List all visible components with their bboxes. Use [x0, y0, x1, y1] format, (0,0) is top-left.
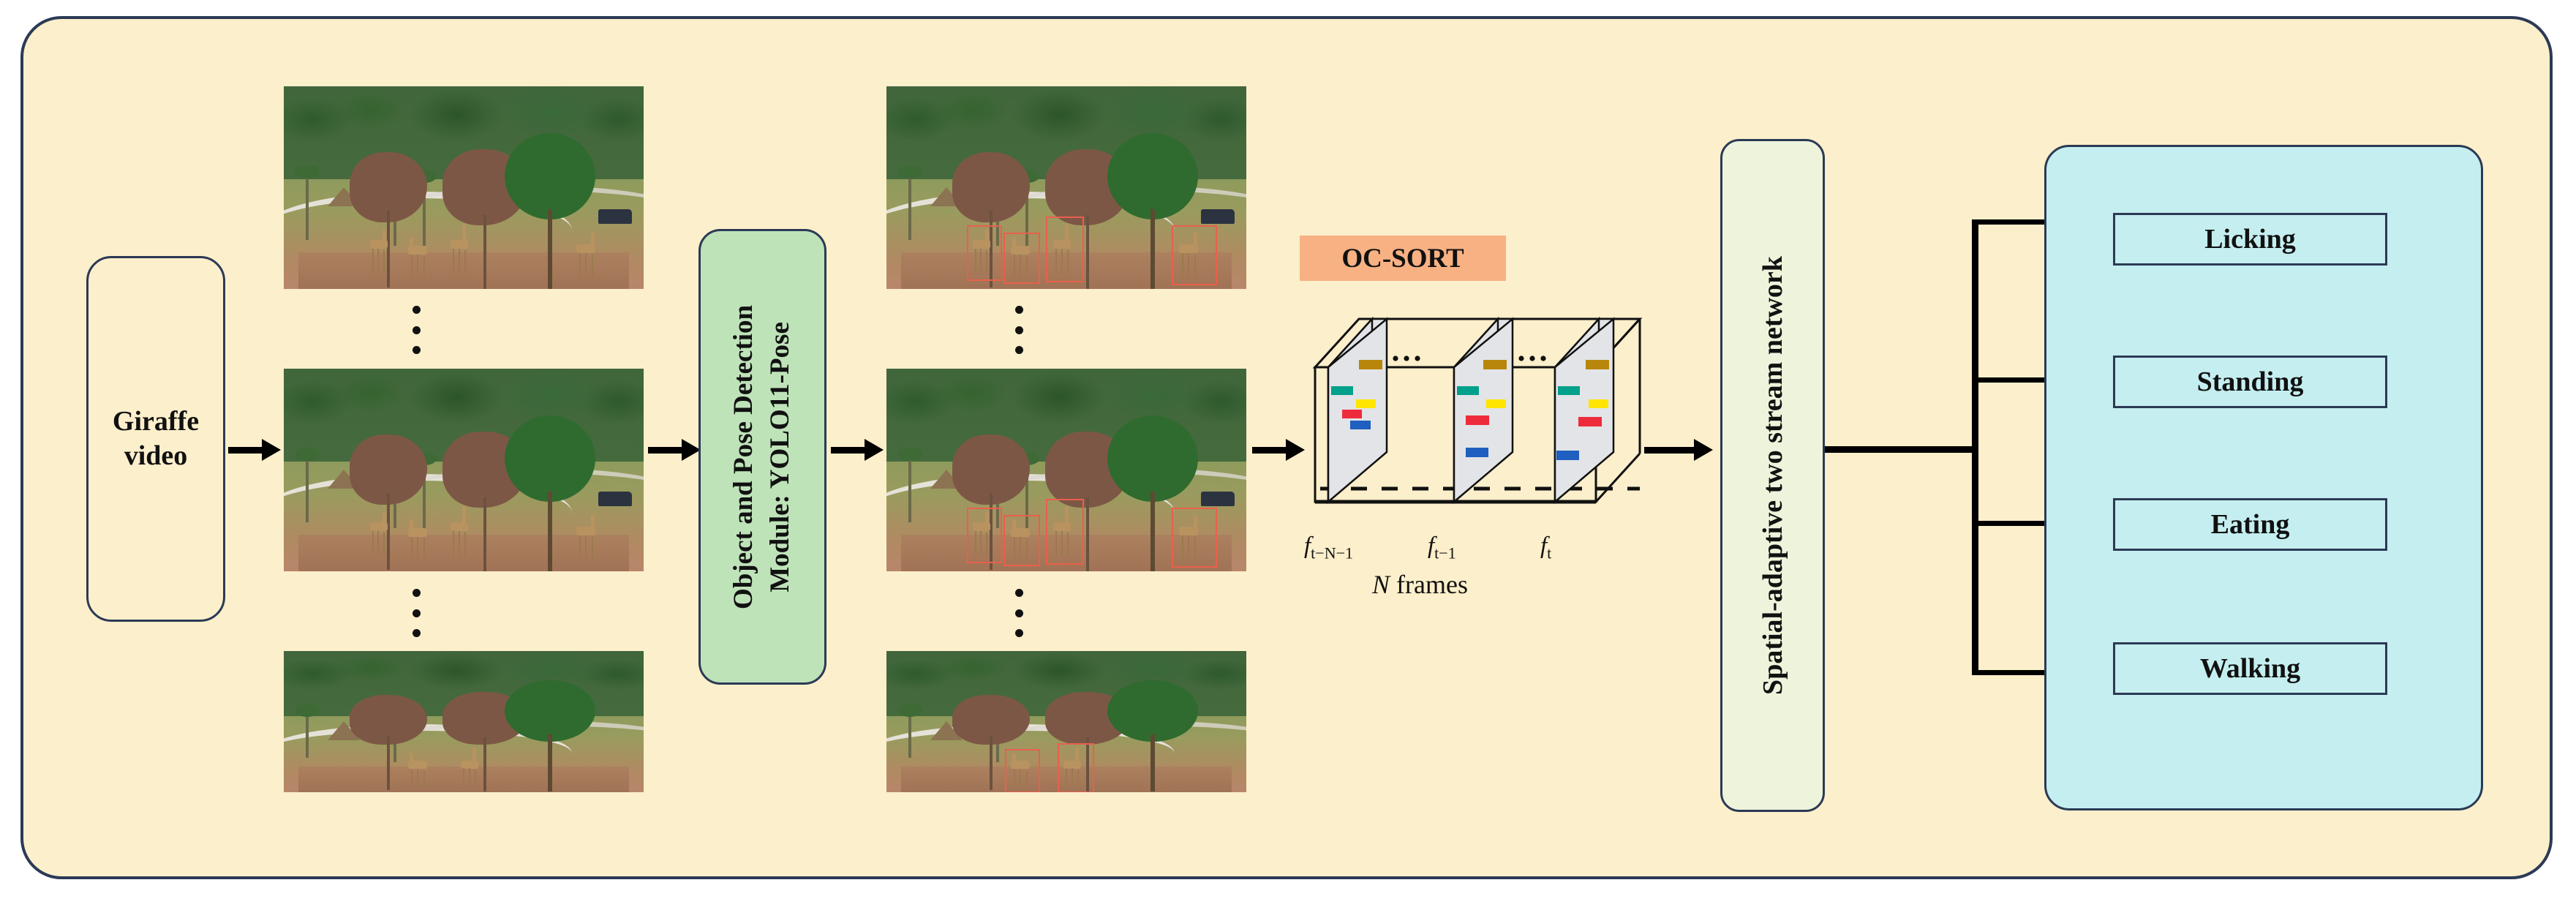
- branch-line-eating: [1972, 521, 2054, 526]
- cube-svg: [1302, 306, 1646, 533]
- branch-line-walking: [1972, 670, 2054, 675]
- raw-frames-ellipsis-top: [412, 306, 421, 354]
- detected-frame-top: [886, 86, 1246, 289]
- giraffe-video-label-line1: Giraffe: [113, 406, 199, 437]
- detection-bbox: [1172, 225, 1217, 285]
- spatial-adaptive-network-label: Spatial-adaptive two stream network: [1757, 256, 1789, 695]
- detection-bbox: [1003, 233, 1040, 284]
- output-licking-label: Licking: [2204, 223, 2296, 255]
- cube-frame-label-2-base: f: [1540, 533, 1547, 559]
- branch-spine-vertical: [1972, 219, 1978, 675]
- output-eating[interactable]: Eating: [2113, 498, 2387, 551]
- detected-frames-ellipsis-top: [1014, 306, 1023, 354]
- output-licking[interactable]: Licking: [2113, 213, 2387, 266]
- output-eating-label: Eating: [2211, 508, 2290, 541]
- oc-sort-banner[interactable]: OC-SORT: [1300, 236, 1506, 281]
- cube-frame-label-2: ft: [1540, 533, 1551, 563]
- detector-label: Object and Pose Detection Module: YOLO11…: [726, 304, 799, 609]
- cube-frame-label-1: ft−1: [1428, 533, 1456, 563]
- oc-sort-label: OC-SORT: [1341, 243, 1464, 274]
- raw-frame-bottom: [284, 651, 644, 792]
- detection-bbox: [1003, 515, 1040, 566]
- cube-frame-label-1-base: f: [1428, 533, 1434, 559]
- cube-frame-label-0: ft−N−1: [1304, 533, 1353, 563]
- giraffe-video-box[interactable]: Giraffe video: [86, 256, 225, 622]
- cube-frame-label-2-sub: t: [1547, 544, 1551, 563]
- detector-label-line2: Module: YOLO11-Pose: [766, 322, 796, 593]
- detected-frame-bottom: [886, 651, 1246, 792]
- detection-bbox: [967, 225, 1002, 281]
- detection-bbox: [1046, 217, 1084, 282]
- branch-line-licking: [1972, 219, 2054, 225]
- detected-frames-ellipsis-bottom: [1014, 589, 1023, 637]
- output-standing[interactable]: Standing: [2113, 356, 2387, 408]
- cube-frame-label-0-base: f: [1304, 533, 1311, 559]
- cube-frame-label-0-sub: t−N−1: [1311, 544, 1353, 563]
- giraffe-video-label-line2: video: [124, 440, 188, 471]
- detection-bbox: [1005, 749, 1040, 792]
- branch-trunk-horizontal: [1825, 446, 1973, 453]
- detection-bbox: [1046, 499, 1084, 565]
- output-standing-label: Standing: [2197, 366, 2304, 398]
- detection-bbox: [1172, 508, 1217, 568]
- detector-label-line1: Object and Pose Detection: [729, 304, 759, 609]
- detected-frame-middle: [886, 369, 1246, 571]
- detection-bbox: [967, 508, 1002, 563]
- diagram-canvas: Giraffe video: [0, 0, 2576, 899]
- raw-frame-middle: [284, 369, 644, 571]
- detector-box[interactable]: Object and Pose Detection Module: YOLO11…: [698, 229, 826, 685]
- output-panel: Licking Standing Eating Walking: [2044, 145, 2483, 810]
- cube-span-label: N frames: [1372, 569, 1468, 600]
- raw-frame-top: [284, 86, 644, 289]
- detection-bbox: [1058, 743, 1094, 792]
- raw-frames-ellipsis-bottom: [412, 589, 421, 637]
- cube-span-label-italic: N: [1372, 570, 1390, 599]
- cube-frame-label-1-sub: t−1: [1434, 544, 1456, 563]
- giraffe-video-label: Giraffe video: [113, 405, 199, 474]
- output-walking-label: Walking: [2200, 652, 2300, 685]
- frame-sequence-cube: [1302, 306, 1646, 533]
- spatial-adaptive-network-box[interactable]: Spatial-adaptive two stream network: [1720, 139, 1825, 812]
- output-walking[interactable]: Walking: [2113, 642, 2387, 695]
- branch-line-standing: [1972, 377, 2054, 383]
- cube-span-label-rest: frames: [1390, 570, 1468, 599]
